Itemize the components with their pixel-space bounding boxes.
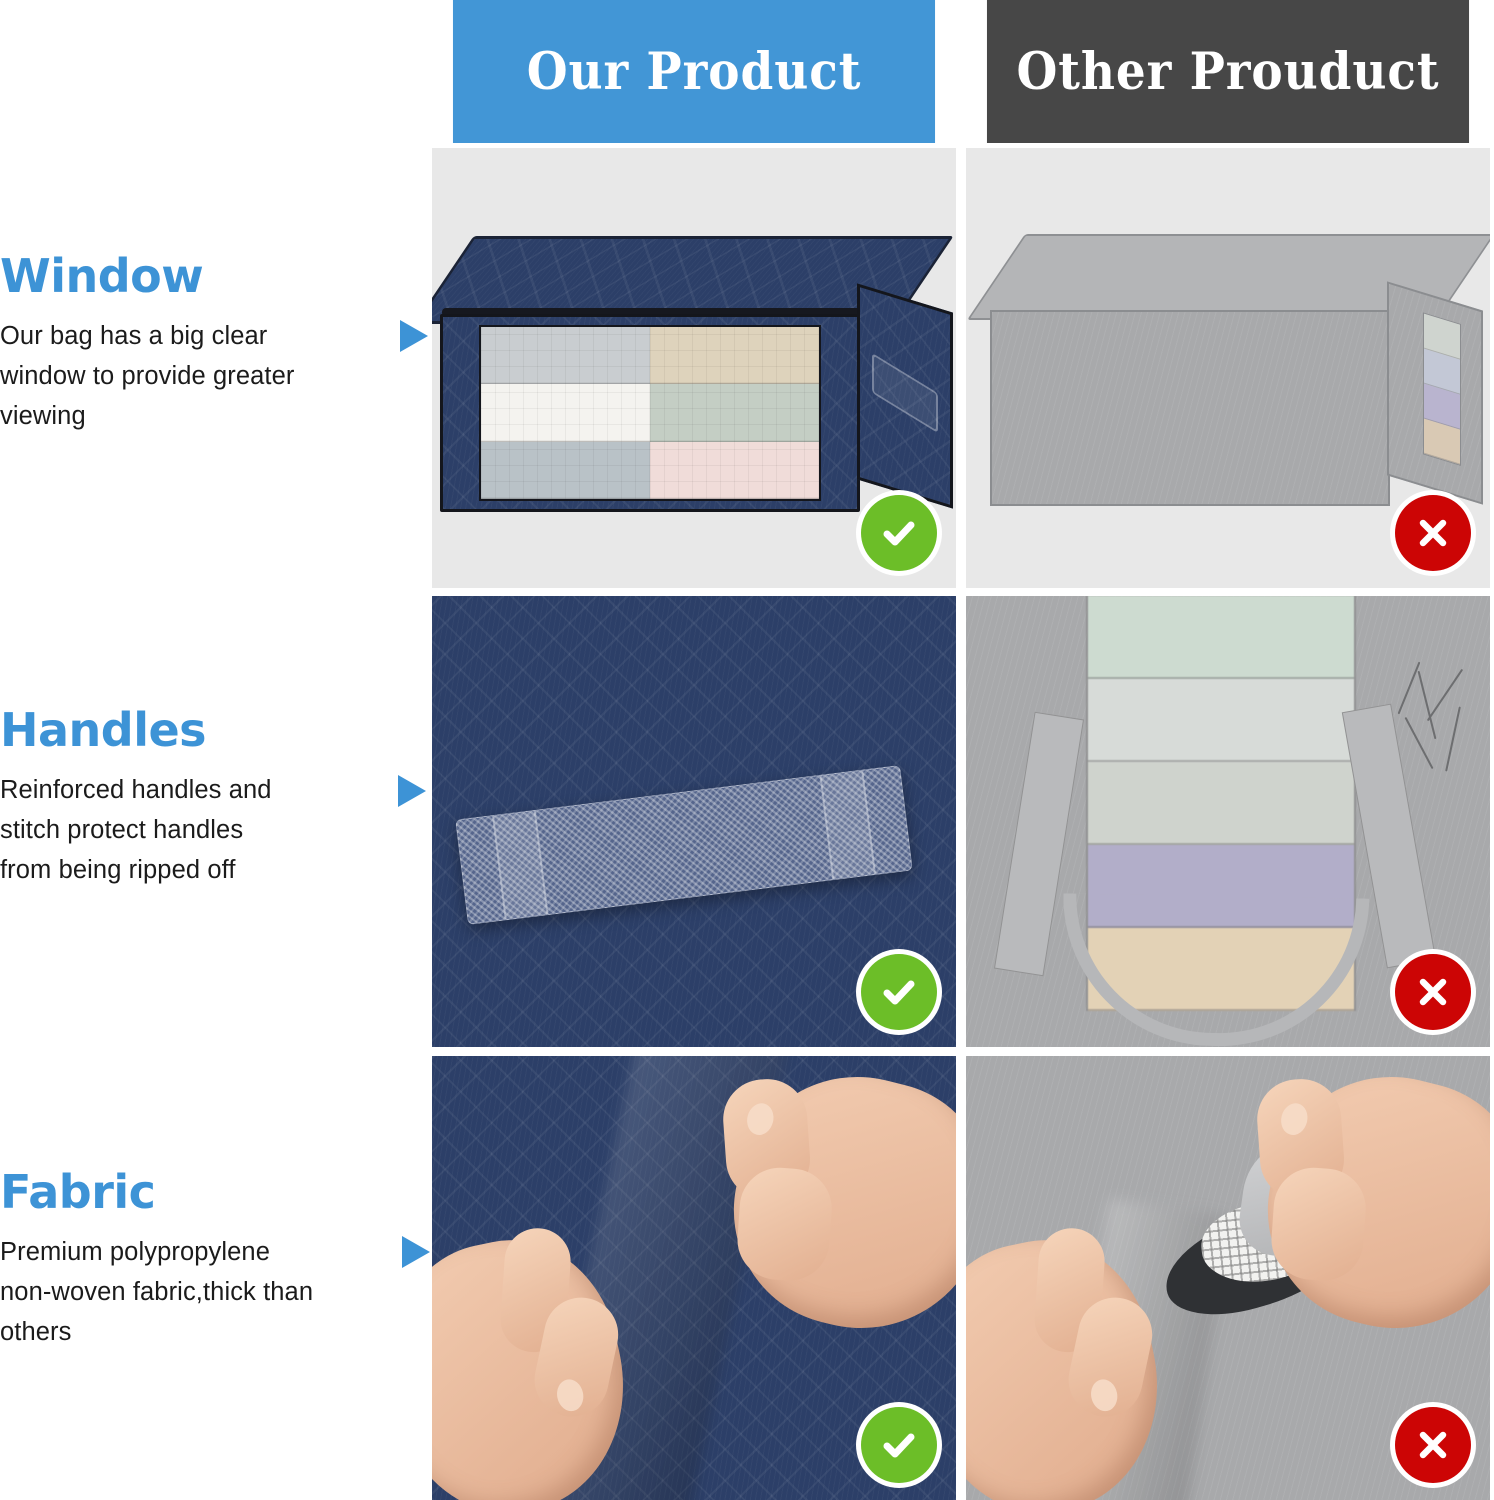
feature-handles-line-3: from being ripped off <box>0 850 382 890</box>
cross-badge <box>1390 1402 1476 1488</box>
feature-window-line-2: window to provide greater <box>0 356 382 396</box>
feature-fabric-line-1: Premium polypropylene <box>0 1232 382 1272</box>
check-icon <box>877 1423 921 1467</box>
arrow-right-icon <box>398 775 426 807</box>
other-handles-image <box>966 596 1490 1047</box>
arrow-right-icon <box>402 1236 430 1268</box>
bag-front-panel <box>990 310 1390 506</box>
feature-window-title: Window <box>0 252 386 300</box>
comparison-infographic: Window Our bag has a big clear window to… <box>0 0 1494 1500</box>
hand-right <box>709 1056 956 1355</box>
other-fabric-image <box>966 1056 1490 1500</box>
bag-front-panel <box>440 314 860 512</box>
feature-window-description: Our bag has a big clear window to provid… <box>0 316 386 436</box>
feature-fabric: Fabric Premium polypropylene non-woven f… <box>0 1168 432 1352</box>
check-badge <box>856 1402 942 1488</box>
our-product-header: Our Product <box>453 0 935 143</box>
check-badge <box>856 949 942 1035</box>
feature-fabric-title: Fabric <box>0 1168 386 1216</box>
close-icon <box>1412 971 1454 1013</box>
bag-handle <box>872 353 938 433</box>
clear-window <box>479 325 821 501</box>
comparison-grid: Our Product <box>432 0 1494 1500</box>
feature-handles-line-1: Reinforced handles and <box>0 770 382 810</box>
feature-window-line-1: Our bag has a big clear <box>0 316 382 356</box>
feature-handles-line-2: stitch protect handles <box>0 810 382 850</box>
other-product-header: Other Prouduct <box>987 0 1469 143</box>
our-window-image <box>432 148 956 588</box>
cross-badge <box>1390 490 1476 576</box>
close-icon <box>1412 1424 1454 1466</box>
handle-loop <box>1061 893 1370 1047</box>
feature-fabric-description: Premium polypropylene non-woven fabric,t… <box>0 1232 386 1352</box>
feature-handles-description: Reinforced handles and stitch protect ha… <box>0 770 386 890</box>
check-badge <box>856 490 942 576</box>
arrow-right-icon <box>400 320 428 352</box>
column-other-product: Other Prouduct <box>966 0 1490 1500</box>
column-our-product: Our Product <box>432 0 956 1500</box>
check-icon <box>877 511 921 555</box>
bag-side-panel <box>1387 281 1483 504</box>
reinforced-handle-strap <box>455 765 913 925</box>
other-window-image <box>966 148 1490 588</box>
check-icon <box>877 970 921 1014</box>
ripped-stitching <box>1404 660 1476 784</box>
feature-handles: Handles Reinforced handles and stitch pr… <box>0 706 432 890</box>
feature-list: Window Our bag has a big clear window to… <box>0 0 432 1500</box>
feature-window: Window Our bag has a big clear window to… <box>0 252 432 436</box>
close-icon <box>1412 512 1454 554</box>
feature-handles-title: Handles <box>0 706 386 754</box>
feature-window-line-3: viewing <box>0 396 382 436</box>
our-handles-image <box>432 596 956 1047</box>
bag-side-panel <box>857 283 953 508</box>
feature-fabric-line-2: non-woven fabric,thick than <box>0 1272 382 1312</box>
cross-badge <box>1390 949 1476 1035</box>
small-window <box>1423 312 1461 466</box>
feature-fabric-line-3: others <box>0 1312 382 1352</box>
hand-right <box>1243 1056 1490 1355</box>
towel-stack-left <box>481 327 650 499</box>
towel-stack-right <box>650 327 819 499</box>
our-fabric-image <box>432 1056 956 1500</box>
